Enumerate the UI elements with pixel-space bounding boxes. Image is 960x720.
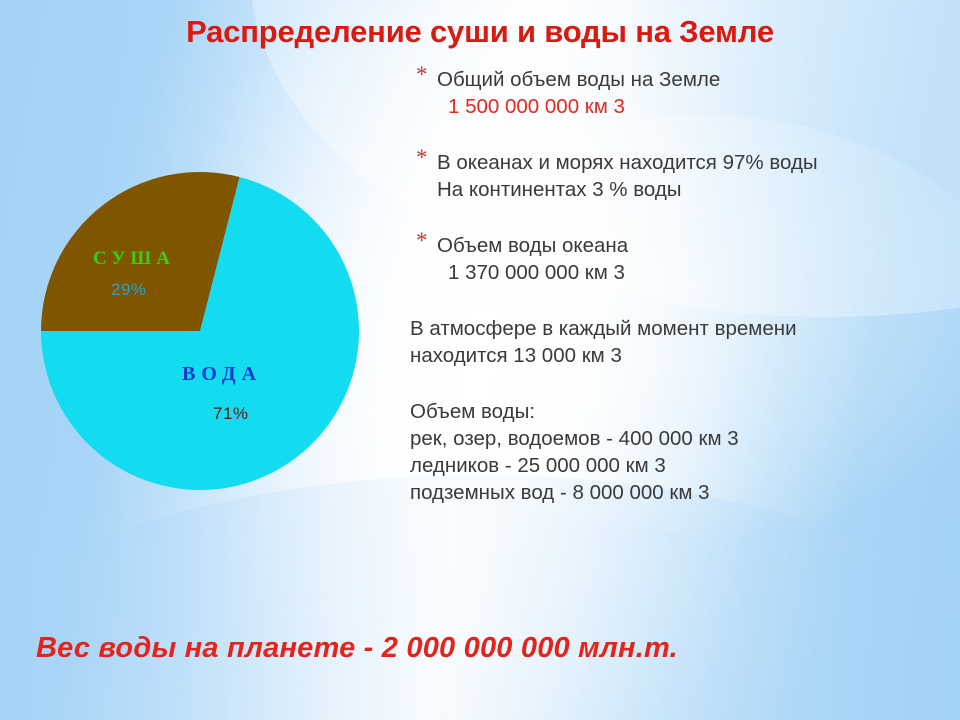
fact-line: Объем воды океана xyxy=(437,232,940,259)
spacer xyxy=(410,369,940,398)
fact-line: На континентах 3 % воды xyxy=(437,176,940,203)
spacer xyxy=(410,286,940,315)
fact-line: рек, озер, водоемов - 400 000 км 3 xyxy=(410,425,940,452)
fact-block-total-water: * Общий объем воды на Земле 1 500 000 00… xyxy=(410,66,940,120)
fact-line: Объем воды: xyxy=(410,398,940,425)
pie-chart-svg xyxy=(41,172,359,490)
spacer xyxy=(410,203,940,232)
fact-line: находится 13 000 км 3 xyxy=(410,342,940,369)
fact-line: подземных вод - 8 000 000 км 3 xyxy=(410,479,940,506)
fact-block-water-breakdown: Объем воды: рек, озер, водоемов - 400 00… xyxy=(410,398,940,506)
spacer xyxy=(410,120,940,149)
pie-value-susha: 29% xyxy=(111,280,147,300)
page-title: Распределение суши и воды на Земле xyxy=(0,14,960,50)
footer-weight-of-water: Вес воды на планете - 2 000 000 000 млн.… xyxy=(36,632,678,665)
pie-label-voda: ВОДА xyxy=(182,363,262,386)
fact-line: 1 370 000 000 км 3 xyxy=(437,259,940,286)
fact-line: 1 500 000 000 км 3 xyxy=(437,93,940,120)
pie-value-voda: 71% xyxy=(213,404,249,424)
fact-line: В атмосфере в каждый момент времени xyxy=(410,315,940,342)
asterisk-bullet-icon: * xyxy=(416,63,428,86)
fact-block-atmosphere: В атмосфере в каждый момент времени нахо… xyxy=(410,315,940,369)
facts-list: * Общий объем воды на Земле 1 500 000 00… xyxy=(410,66,940,506)
fact-line: В океанах и морях находится 97% воды xyxy=(437,149,940,176)
fact-block-ocean-volume: * Объем воды океана 1 370 000 000 км 3 xyxy=(410,232,940,286)
fact-line: ледников - 25 000 000 км 3 xyxy=(410,452,940,479)
pie-label-susha: СУША xyxy=(93,248,175,270)
slide-canvas: Распределение суши и воды на Земле СУША … xyxy=(0,0,960,720)
asterisk-bullet-icon: * xyxy=(416,146,428,169)
fact-block-oceans-continents: * В океанах и морях находится 97% воды Н… xyxy=(410,149,940,203)
pie-chart: СУША 29% ВОДА 71% xyxy=(41,172,359,490)
fact-line: Общий объем воды на Земле xyxy=(437,66,940,93)
asterisk-bullet-icon: * xyxy=(416,229,428,252)
